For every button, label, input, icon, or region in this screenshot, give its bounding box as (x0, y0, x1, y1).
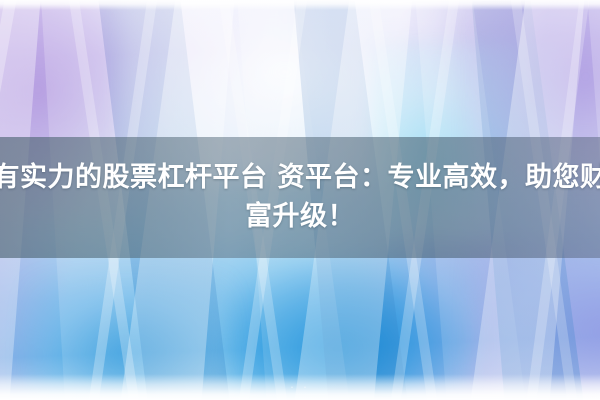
top-fade (0, 0, 600, 10)
headline-line-1: 有实力的股票杠杆平台 资平台：专业高效，助您财 (0, 159, 600, 197)
headline-block: 有实力的股票杠杆平台 资平台：专业高效，助您财 富升级！ (0, 137, 600, 258)
watermark-text: · · (0, 381, 600, 394)
headline-line-2: 富升级！ (245, 198, 355, 236)
promo-banner: · · 有实力的股票杠杆平台 资平台：专业高效，助您财 富升级！ (0, 0, 600, 400)
